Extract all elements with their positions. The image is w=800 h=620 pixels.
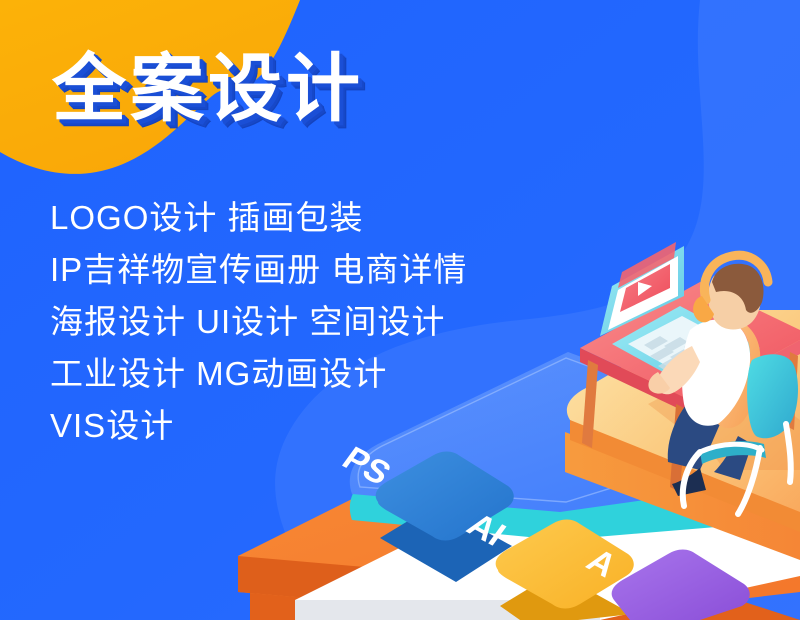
service-list: LOGO设计 插画包装 IP吉祥物宣传画册 电商详情 海报设计 UI设计 空间设… [50,192,467,452]
service-line-2: IP吉祥物宣传画册 电商详情 [50,244,467,296]
service-line-1: LOGO设计 插画包装 [50,192,467,244]
headline-block: 全案设计 [52,52,364,126]
service-line-5: VIS设计 [50,400,467,452]
service-line-3: 海报设计 UI设计 空间设计 [50,296,467,348]
service-line-4: 工业设计 MG动画设计 [50,348,467,400]
page-title: 全案设计 [52,52,364,126]
poster-canvas: PS AI A 全案设计 LOGO设计 插画包装 IP吉祥物宣传画册 电商详情 … [0,0,800,620]
